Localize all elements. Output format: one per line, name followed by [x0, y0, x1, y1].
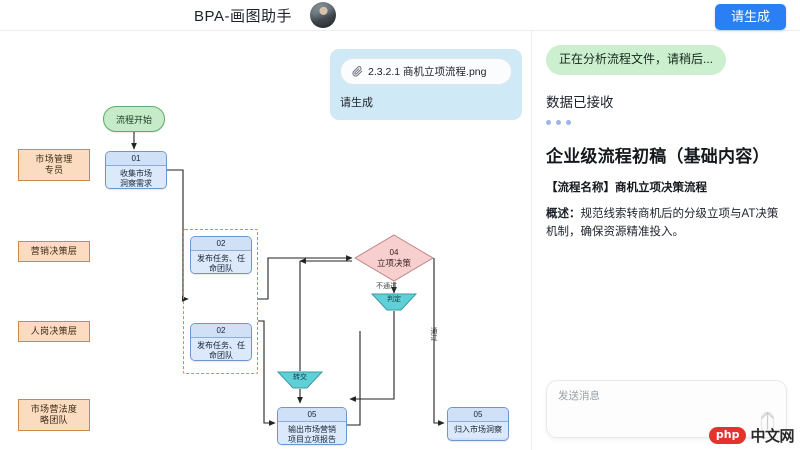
page-title: BPA-画图助手 — [194, 5, 292, 26]
flow-node-label: 归入市场洞察 — [448, 422, 508, 438]
flow-gateway-judge[interactable]: 判定 — [371, 293, 417, 311]
typing-dot — [546, 120, 551, 125]
user-avatar[interactable] — [310, 2, 336, 28]
typing-dot — [566, 120, 571, 125]
watermark-text: 中文网 — [750, 425, 794, 446]
watermark: php 中文网 — [709, 425, 794, 446]
diamond-shape — [354, 234, 434, 282]
flow-node-label: 输出市场营销项目立项报告 — [278, 422, 346, 445]
generate-button[interactable]: 请生成 — [715, 4, 786, 30]
flow-node-number: 05 — [448, 408, 508, 422]
document-overview-label: 概述： — [546, 208, 581, 220]
flow-gateway-transfer[interactable]: 转交 — [277, 371, 323, 389]
document-subtitle: 【流程名称】商机立项决策流程 — [546, 179, 786, 195]
flow-node-02-assign-team-b[interactable]: 02 发布任务、任命团队 — [190, 323, 252, 361]
top-bar-title-group: BPA-画图助手 — [0, 0, 530, 30]
message-input[interactable] — [558, 390, 754, 402]
flow-node-number: 01 — [106, 152, 166, 166]
flow-node-01-collect-insight[interactable]: 01 收集市场洞察需求 — [105, 151, 167, 189]
flow-node-start[interactable]: 流程开始 — [103, 106, 165, 132]
flow-node-label: 发布任务、任命团队 — [191, 338, 251, 361]
attachment-file-name: 2.3.2.1 商机立项流程.png — [368, 64, 486, 79]
edge-label-approved: 通过 — [428, 327, 438, 341]
watermark-badge: php — [709, 427, 747, 444]
status-badge: 正在分析流程文件，请稍后... — [546, 45, 726, 75]
assistant-pane: 正在分析流程文件，请稍后... 数据已接收 企业级流程初稿（基础内容） 【流程名… — [531, 31, 800, 450]
document-title: 企业级流程初稿（基础内容） — [546, 142, 786, 167]
app-root: BPA-画图助手 请生成 — [0, 0, 800, 450]
flow-node-05-archive-library[interactable]: 05 归入市场洞察 — [447, 407, 509, 441]
lane-label-market-strategy-team: 市场营法度略团队 — [18, 399, 90, 431]
lane-label-staffing-decision: 人岗决策层 — [18, 321, 90, 342]
user-message-bubble: 2.3.2.1 商机立项流程.png 请生成 — [330, 49, 522, 120]
attachment-chip[interactable]: 2.3.2.1 商机立项流程.png — [340, 58, 512, 85]
lane-label-market-admin: 市场管理专员 — [18, 149, 90, 181]
flow-node-number: 05 — [278, 408, 346, 422]
edge-label-rejected: 不通过 — [376, 281, 397, 291]
flow-node-label: 收集市场洞察需求 — [106, 166, 166, 189]
typing-dot — [556, 120, 561, 125]
top-bar: BPA-画图助手 请生成 — [0, 0, 800, 31]
gateway-label: 转交 — [277, 371, 323, 389]
flow-node-02-assign-team-a[interactable]: 02 发布任务、任命团队 — [190, 236, 252, 274]
flow-node-number: 02 — [191, 324, 251, 338]
flow-node-number: 02 — [191, 237, 251, 251]
flow-node-label: 发布任务、任命团队 — [191, 251, 251, 274]
gateway-label: 判定 — [371, 293, 417, 311]
document-overview: 概述：规范线索转商机后的分级立项与AT决策机制，确保资源精准投入。 — [546, 205, 786, 242]
flow-node-05-output-report[interactable]: 05 输出市场营销项目立项报告 — [277, 407, 347, 445]
paperclip-icon — [352, 66, 363, 77]
user-message-text: 请生成 — [340, 94, 512, 110]
lane-label-marketing-decision: 营销决策层 — [18, 241, 90, 262]
typing-indicator — [546, 120, 786, 125]
data-received-line: 数据已接收 — [546, 91, 786, 111]
document-overview-text: 规范线索转商机后的分级立项与AT决策机制，确保资源精准投入。 — [546, 208, 778, 239]
flow-node-04-decision[interactable]: 04 立项决策 — [354, 234, 434, 282]
